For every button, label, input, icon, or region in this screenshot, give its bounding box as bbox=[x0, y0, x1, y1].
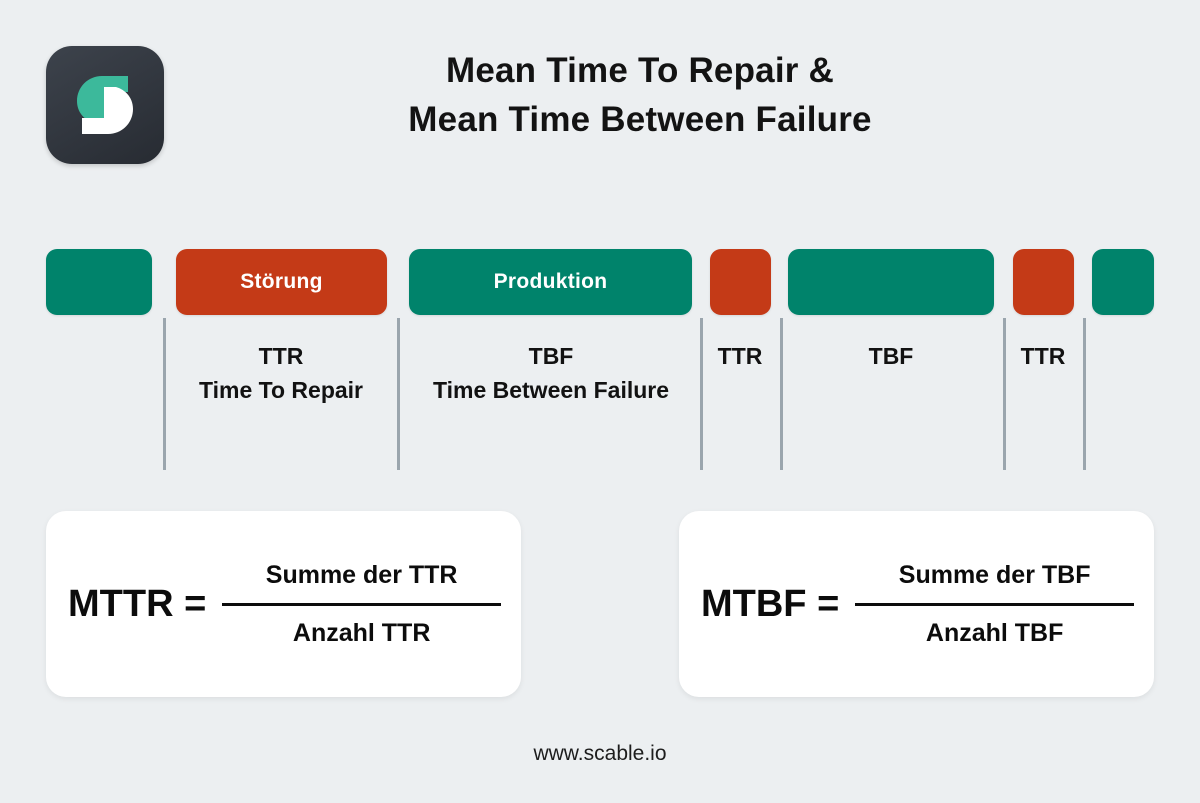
page-title: Mean Time To Repair & Mean Time Between … bbox=[200, 46, 1080, 144]
formula-card-mtbf: MTBF =Summe der TBFAnzahl TBF bbox=[679, 511, 1154, 697]
scable-s-logo-icon bbox=[46, 46, 164, 164]
segment-full-name: Time To Repair bbox=[161, 373, 401, 407]
segment-abbr: TBF bbox=[781, 339, 1001, 373]
formula-fraction-bar-mtbf bbox=[855, 603, 1134, 606]
segment-label-ttr-2: TTR bbox=[701, 339, 779, 373]
timeline-bar-failure-3 bbox=[710, 249, 771, 315]
formula-denominator-mtbf: Anzahl TBF bbox=[914, 615, 1076, 652]
timeline-bar-failure-1: Störung bbox=[176, 249, 387, 315]
timeline-bar-failure-5 bbox=[1013, 249, 1074, 315]
segment-abbr: TTR bbox=[1004, 339, 1082, 373]
segment-abbr: TBF bbox=[401, 339, 701, 373]
timeline-bar-production-0 bbox=[46, 249, 152, 315]
title-line-1: Mean Time To Repair & bbox=[200, 46, 1080, 95]
timeline-bar-label: Störung bbox=[240, 270, 323, 294]
segment-abbr: TTR bbox=[701, 339, 779, 373]
formula-card-mttr: MTTR =Summe der TTRAnzahl TTR bbox=[46, 511, 521, 697]
header: Mean Time To Repair & Mean Time Between … bbox=[0, 0, 1200, 190]
segment-label-ttr-0: TTRTime To Repair bbox=[161, 339, 401, 407]
formula-denominator-mttr: Anzahl TTR bbox=[281, 615, 443, 652]
formula-numerator-mtbf: Summe der TBF bbox=[887, 557, 1103, 594]
footer-url: www.scable.io bbox=[0, 742, 1200, 766]
segment-label-tbf-3: TBF bbox=[781, 339, 1001, 373]
segment-label-tbf-1: TBFTime Between Failure bbox=[401, 339, 701, 407]
segment-full-name: Time Between Failure bbox=[401, 373, 701, 407]
timeline-bar-label: Produktion bbox=[494, 270, 608, 294]
timeline-bar-production-2: Produktion bbox=[409, 249, 692, 315]
formula-fraction-bar-mttr bbox=[222, 603, 501, 606]
formula-lhs-mtbf: MTBF = bbox=[701, 583, 839, 626]
title-line-2: Mean Time Between Failure bbox=[200, 95, 1080, 144]
timeline-bar-production-4 bbox=[788, 249, 994, 315]
scable-logo bbox=[46, 46, 164, 164]
formula-fraction-mttr: Summe der TTRAnzahl TTR bbox=[222, 557, 501, 652]
segment-label-ttr-4: TTR bbox=[1004, 339, 1082, 373]
timeline-bars: StörungProduktion bbox=[0, 249, 1200, 319]
formula-fraction-mtbf: Summe der TBFAnzahl TBF bbox=[855, 557, 1134, 652]
segment-abbr: TTR bbox=[161, 339, 401, 373]
timeline-tick-5 bbox=[1083, 318, 1086, 470]
formula-lhs-mttr: MTTR = bbox=[68, 583, 206, 626]
formula-numerator-mttr: Summe der TTR bbox=[254, 557, 470, 594]
timeline-bar-production-6 bbox=[1092, 249, 1154, 315]
